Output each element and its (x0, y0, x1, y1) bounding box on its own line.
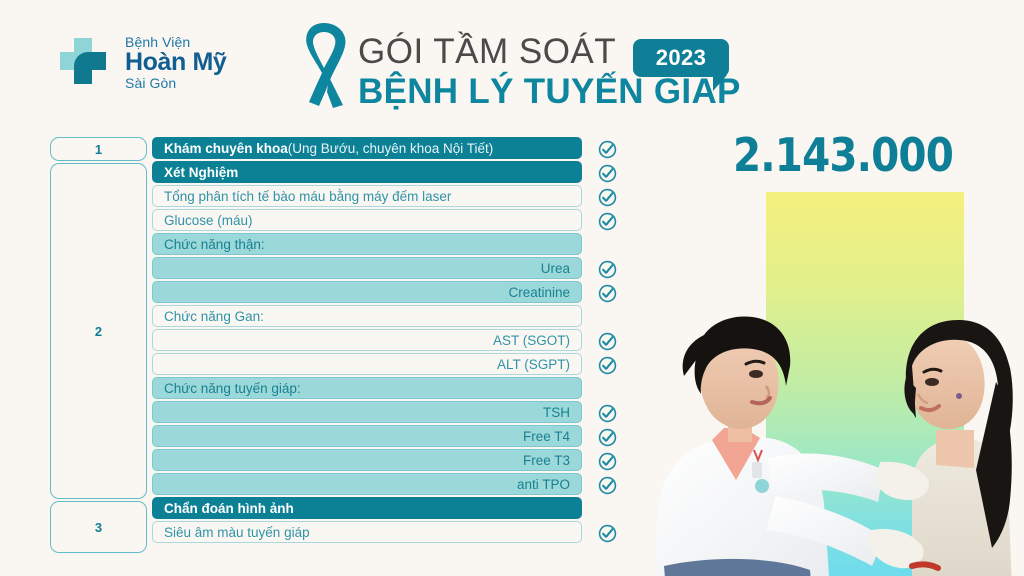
check-circle-icon (598, 260, 617, 279)
check-circle-icon (598, 524, 617, 543)
service-check-slot (592, 401, 622, 425)
group-number-column: 123 (50, 137, 147, 555)
brand-line-3: Sài Gòn (125, 76, 226, 90)
check-circle-icon (598, 284, 617, 303)
service-check-slot (592, 497, 622, 521)
service-row-label: Chức năng Gan: (164, 309, 264, 324)
service-row-label: Free T3 (523, 453, 570, 468)
service-row: Chức năng tuyến giáp: (152, 377, 582, 399)
service-check-slot (592, 209, 622, 233)
service-check-slot (592, 281, 622, 305)
poster-header: Bệnh Viện Hoàn Mỹ Sài Gòn GÓI TẦM SOÁT B… (0, 0, 1024, 124)
service-check-slot (592, 425, 622, 449)
package-price: 2.143.000 (684, 128, 1003, 182)
service-row-label: Xét Nghiệm (164, 165, 238, 180)
service-row: Glucose (máu) (152, 209, 582, 231)
service-row-label: Siêu âm màu tuyến giáp (164, 525, 310, 540)
service-check-slot (592, 305, 622, 329)
service-row-label: Free T4 (523, 429, 570, 444)
hospital-name: Bệnh Viện Hoàn Mỹ Sài Gòn (125, 33, 226, 90)
service-check-slot (592, 185, 622, 209)
service-row-label: Urea (541, 261, 570, 276)
page-title-line-2: BỆNH LÝ TUYẾN GIÁP (358, 74, 741, 109)
service-check-slot (592, 353, 622, 377)
check-circle-icon (598, 428, 617, 447)
check-circle-icon (598, 476, 617, 495)
service-row: TSH (152, 401, 582, 423)
service-row-label: anti TPO (517, 477, 570, 492)
check-circle-icon (598, 164, 617, 183)
service-row: Chẩn đoán hình ảnh (152, 497, 582, 519)
group-number-label: 3 (95, 520, 102, 535)
check-circle-icon (598, 188, 617, 207)
service-row: Creatinine (152, 281, 582, 303)
service-row-label: TSH (543, 405, 570, 420)
service-row: Free T3 (152, 449, 582, 471)
check-circle-icon (598, 356, 617, 375)
service-check-slot (592, 377, 622, 401)
service-row: AST (SGOT) (152, 329, 582, 351)
service-row: Chức năng thận: (152, 233, 582, 255)
service-check-slot (592, 329, 622, 353)
service-list: Khám chuyên khoa (Ung Bướu, chuyên khoa … (152, 137, 582, 545)
year-badge: 2023 (633, 39, 729, 77)
check-circle-icon (598, 140, 617, 159)
service-row-label: Creatinine (508, 285, 570, 300)
awareness-ribbon-icon (296, 20, 352, 108)
service-row-sublabel: (Ung Bướu, chuyên khoa Nội Tiết) (288, 141, 494, 156)
group-number-box: 1 (50, 137, 147, 161)
service-row-label: ALT (SGPT) (497, 357, 570, 372)
service-row-label: Chức năng tuyến giáp: (164, 381, 301, 396)
group-number-label: 1 (95, 142, 102, 157)
service-row-label: Chẩn đoán hình ảnh (164, 501, 294, 516)
service-row: Xét Nghiệm (152, 161, 582, 183)
brand-line-2: Hoàn Mỹ (125, 50, 226, 75)
group-number-label: 2 (95, 324, 102, 339)
check-circle-icon (598, 452, 617, 471)
service-row: Free T4 (152, 425, 582, 447)
group-number-box: 3 (50, 501, 147, 553)
brand-line-1: Bệnh Viện (125, 35, 226, 49)
thyroid-screening-package-poster: Bệnh Viện Hoàn Mỹ Sài Gòn GÓI TẦM SOÁT B… (0, 0, 1024, 576)
service-row: anti TPO (152, 473, 582, 495)
service-check-slot (592, 257, 622, 281)
service-row: Urea (152, 257, 582, 279)
page-title-line-1: GÓI TẦM SOÁT (358, 34, 616, 69)
service-check-slot (592, 233, 622, 257)
service-row-label: Chức năng thận: (164, 237, 265, 252)
doctor-patient-photo (640, 290, 1024, 576)
check-circle-icon (598, 212, 617, 231)
service-check-slot (592, 161, 622, 185)
service-row: Siêu âm màu tuyến giáp (152, 521, 582, 543)
check-column (592, 137, 622, 545)
service-row-label: AST (SGOT) (493, 333, 570, 348)
service-row: ALT (SGPT) (152, 353, 582, 375)
service-check-slot (592, 449, 622, 473)
service-check-slot (592, 137, 622, 161)
service-check-slot (592, 473, 622, 497)
service-row: Khám chuyên khoa (Ung Bướu, chuyên khoa … (152, 137, 582, 159)
group-number-box: 2 (50, 163, 147, 499)
service-row-label: Glucose (máu) (164, 213, 253, 228)
service-row-label: Khám chuyên khoa (164, 141, 288, 156)
check-circle-icon (598, 404, 617, 423)
service-row: Chức năng Gan: (152, 305, 582, 327)
check-circle-icon (598, 332, 617, 351)
year-badge-label: 2023 (656, 45, 707, 71)
medical-cross-icon (52, 30, 114, 92)
service-row-label: Tổng phân tích tế bào máu bằng máy đếm l… (164, 189, 451, 204)
service-check-slot (592, 521, 622, 545)
service-row: Tổng phân tích tế bào máu bằng máy đếm l… (152, 185, 582, 207)
hospital-logo: Bệnh Viện Hoàn Mỹ Sài Gòn (52, 30, 226, 92)
title-block: GÓI TẦM SOÁT BỆNH LÝ TUYẾN GIÁP 2023 (296, 16, 766, 112)
